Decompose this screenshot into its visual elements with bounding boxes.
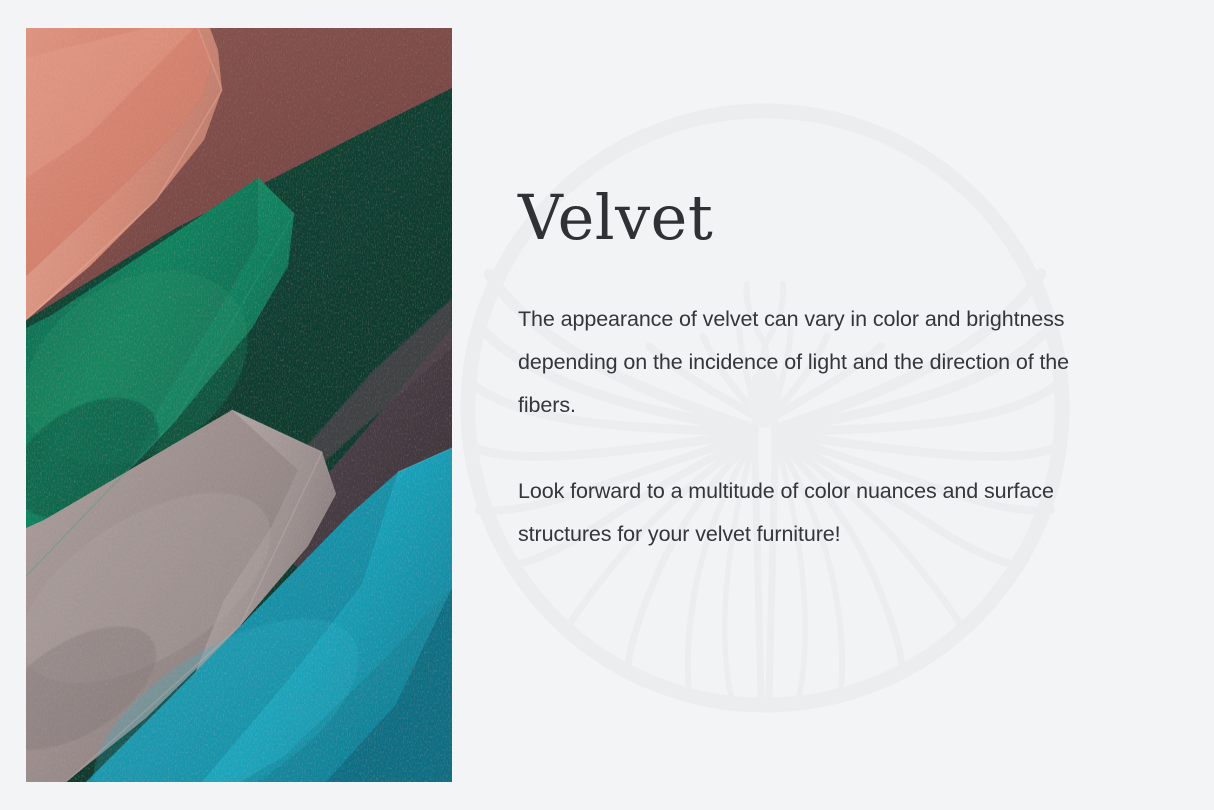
velvet-feature-section: Velvet The appearance of velvet can vary…: [0, 0, 1214, 810]
velvet-fabric-image: [26, 28, 452, 782]
description-block: The appearance of velvet can vary in col…: [518, 298, 1130, 556]
text-column: Velvet The appearance of velvet can vary…: [518, 0, 1138, 810]
page-title: Velvet: [518, 185, 713, 250]
description-paragraph-1: The appearance of velvet can vary in col…: [518, 298, 1130, 427]
description-paragraph-2: Look forward to a multitude of color nua…: [518, 470, 1130, 556]
